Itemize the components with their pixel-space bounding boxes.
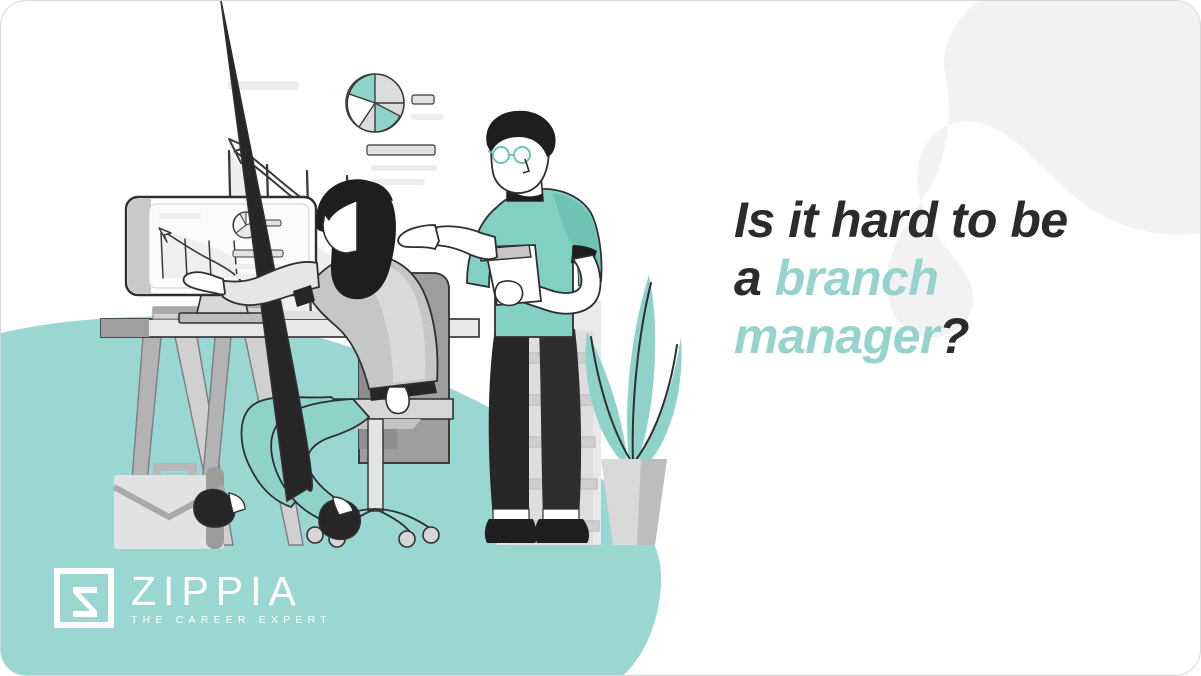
screen-legend-chip (265, 220, 281, 226)
man-leg-right (539, 329, 581, 519)
chart-text-row-1 (410, 114, 444, 120)
chair-column (368, 419, 383, 511)
chart-text-row-2 (367, 145, 435, 155)
chart-text-row-3 (371, 165, 437, 171)
zippia-logo[interactable]: ZIPPIA THE CAREER EXPERT (53, 567, 332, 629)
headline-prefix: a (734, 250, 775, 306)
zippia-z-mark-icon (53, 567, 115, 629)
logo-wordmark: ZIPPIA (131, 570, 332, 612)
desk-top-shadow (101, 319, 149, 337)
monitor-bezel-shade (128, 198, 151, 293)
headline-suffix: ? (939, 308, 969, 364)
logo-tagline: THE CAREER EXPERT (131, 613, 332, 627)
man-hand-right (495, 281, 523, 305)
man-shoe-right (535, 519, 589, 543)
chart-pie (346, 74, 404, 132)
monitor-stand-base (179, 313, 265, 323)
chart-legend-chip (412, 95, 434, 104)
man-leg-left (489, 329, 529, 519)
woman-hand-2 (386, 387, 409, 414)
man-shoe-left (485, 519, 537, 543)
page-title: Is it hard to be a branch manager? (734, 191, 1154, 365)
promo-card: Is it hard to be a branch manager? ZIPPI… (0, 0, 1201, 676)
plant-pot-shade (637, 459, 667, 545)
man-hand-left (398, 225, 439, 249)
chart-text-row-4 (371, 179, 425, 185)
screen-title-bar (159, 213, 201, 219)
headline-accent-manager: manager (734, 308, 939, 364)
headline-line-1: Is it hard to be (734, 192, 1068, 248)
briefcase-handle (153, 463, 197, 475)
headline-accent-branch: branch (775, 250, 939, 306)
